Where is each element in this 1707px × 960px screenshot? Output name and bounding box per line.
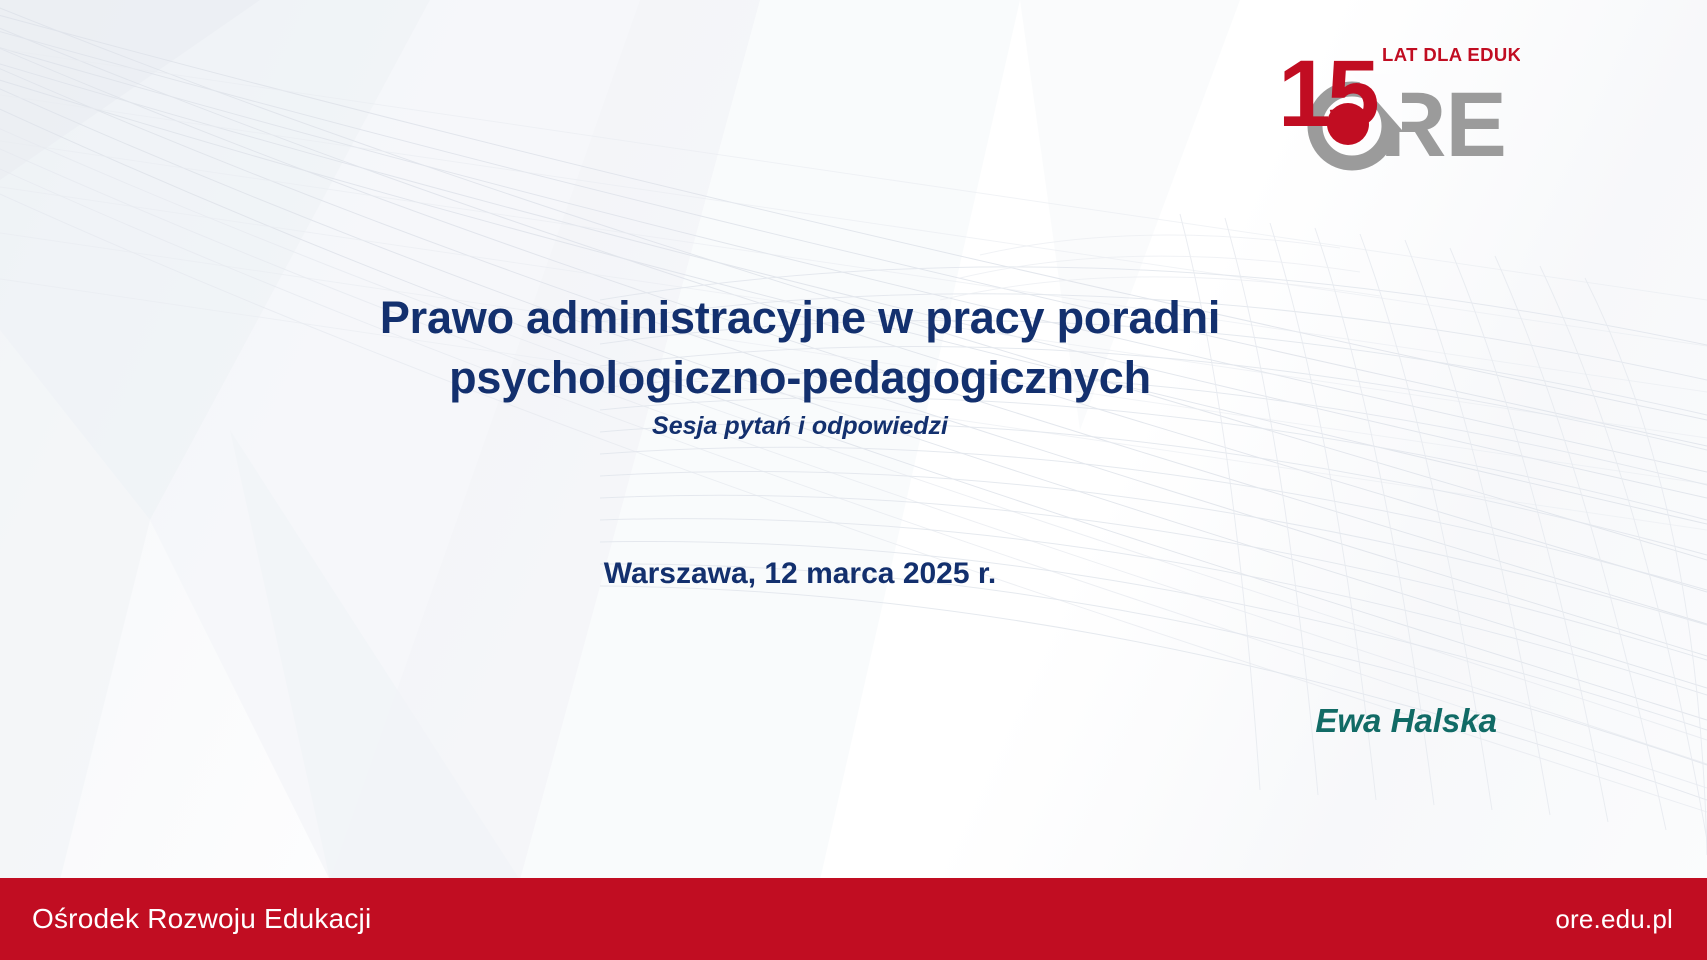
footer-organization: Ośrodek Rozwoju Edukacji xyxy=(32,903,371,935)
author-name: Ewa Halska xyxy=(1315,702,1497,740)
footer-bar: Ośrodek Rozwoju Edukacji ore.edu.pl xyxy=(0,878,1707,960)
title-block: Prawo administracyjne w pracy poradni ps… xyxy=(220,288,1380,442)
logo-red-dot xyxy=(1327,103,1369,145)
slide-subtitle: Sesja pytań i odpowiedzi xyxy=(220,411,1380,442)
logo-tagline-text: LAT DLA EDUKACJI xyxy=(1382,44,1520,65)
presentation-slide: LAT DLA EDUKACJI RE 15 Prawo administrac… xyxy=(0,0,1707,960)
title-line-2: psychologiczno-pedagogicznych xyxy=(449,352,1151,403)
footer-website-url[interactable]: ore.edu.pl xyxy=(1555,904,1673,935)
page-title: Prawo administracyjne w pracy poradni ps… xyxy=(220,288,1380,408)
title-line-1: Prawo administracyjne w pracy poradni xyxy=(380,292,1220,343)
event-location-date: Warszawa, 12 marca 2025 r. xyxy=(220,557,1380,591)
ore-anniversary-logo: LAT DLA EDUKACJI RE 15 xyxy=(1270,38,1520,173)
